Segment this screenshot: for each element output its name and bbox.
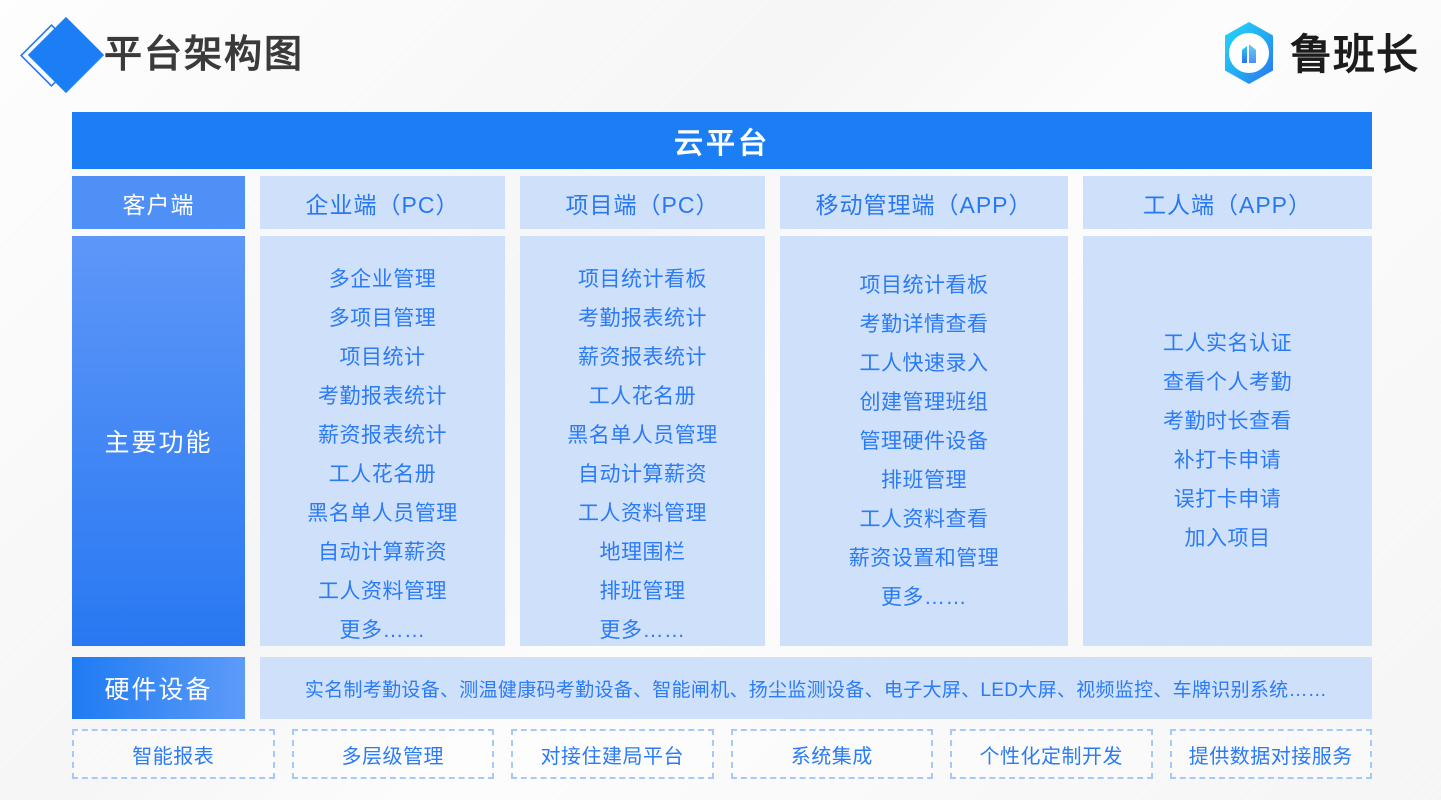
column-header-enterprise-pc[interactable]: 企业端（PC） — [260, 176, 505, 229]
cloud-platform-banner: 云平台 — [72, 112, 1372, 169]
list-item[interactable]: 工人资料查看 — [860, 500, 989, 539]
list-item[interactable]: 多项目管理 — [329, 299, 437, 338]
tag-smart-reports[interactable]: 智能报表 — [72, 729, 275, 779]
list-item[interactable]: 考勤报表统计 — [578, 299, 707, 338]
function-list-worker-app: 工人实名认证 查看个人考勤 考勤时长查看 补打卡申请 误打卡申请 加入项目 — [1083, 236, 1372, 646]
list-item[interactable]: 自动计算薪资 — [318, 533, 447, 572]
hexagon-building-logo-icon — [1218, 20, 1280, 91]
column-header-mobile-admin-app[interactable]: 移动管理端（APP） — [780, 176, 1068, 229]
list-item[interactable]: 工人快速录入 — [860, 344, 989, 383]
column-header-worker-app[interactable]: 工人端（APP） — [1083, 176, 1372, 229]
cloud-platform-label: 云平台 — [674, 120, 770, 162]
list-item[interactable]: 更多…… — [600, 611, 686, 650]
list-item[interactable]: 多企业管理 — [329, 260, 437, 299]
list-item[interactable]: 工人花名册 — [589, 377, 697, 416]
list-item[interactable]: 考勤报表统计 — [318, 377, 447, 416]
hardware-devices-list: 实名制考勤设备、测温健康码考勤设备、智能闸机、扬尘监测设备、电子大屏、LED大屏… — [260, 657, 1372, 719]
function-list-mobile-admin-app: 项目统计看板 考勤详情查看 工人快速录入 创建管理班组 管理硬件设备 排班管理 … — [780, 236, 1068, 646]
platform-architecture-diagram: 平台架构图 — [0, 0, 1441, 800]
row-label-main-functions: 主要功能 — [72, 236, 245, 646]
list-item[interactable]: 地理围栏 — [600, 533, 686, 572]
row-label-client: 客户端 — [72, 176, 245, 229]
row-label-hardware-devices: 硬件设备 — [72, 657, 245, 719]
list-item[interactable]: 误打卡申请 — [1174, 480, 1282, 519]
hardware-devices-row: 硬件设备 实名制考勤设备、测温健康码考勤设备、智能闸机、扬尘监测设备、电子大屏、… — [72, 657, 1372, 719]
main-functions-row: 主要功能 多企业管理 多项目管理 项目统计 考勤报表统计 薪资报表统计 工人花名… — [72, 236, 1372, 646]
list-item[interactable]: 工人花名册 — [329, 455, 437, 494]
list-item[interactable]: 考勤详情查看 — [860, 305, 989, 344]
list-item[interactable]: 黑名单人员管理 — [307, 494, 458, 533]
client-type-header-row: 客户端 企业端（PC） 项目端（PC） 移动管理端（APP） 工人端（APP） — [72, 176, 1372, 229]
brand-logo: 鲁班长 — [1218, 18, 1419, 92]
column-header-project-pc[interactable]: 项目端（PC） — [520, 176, 765, 229]
list-item[interactable]: 工人资料管理 — [318, 572, 447, 611]
list-item[interactable]: 加入项目 — [1185, 519, 1271, 558]
list-item[interactable]: 查看个人考勤 — [1163, 363, 1292, 402]
list-item[interactable]: 项目统计 — [340, 338, 426, 377]
diamond-icon — [8, 16, 104, 96]
list-item[interactable]: 自动计算薪资 — [578, 455, 707, 494]
list-item[interactable]: 考勤时长查看 — [1163, 402, 1292, 441]
list-item[interactable]: 工人资料管理 — [578, 494, 707, 533]
list-item[interactable]: 补打卡申请 — [1174, 441, 1282, 480]
list-item[interactable]: 黑名单人员管理 — [567, 416, 718, 455]
list-item[interactable]: 项目统计看板 — [578, 260, 707, 299]
function-list-enterprise-pc: 多企业管理 多项目管理 项目统计 考勤报表统计 薪资报表统计 工人花名册 黑名单… — [260, 236, 505, 646]
list-item[interactable]: 项目统计看板 — [860, 266, 989, 305]
tag-system-integration[interactable]: 系统集成 — [731, 729, 934, 779]
capability-tags-row: 智能报表 多层级管理 对接住建局平台 系统集成 个性化定制开发 提供数据对接服务 — [72, 729, 1372, 779]
function-list-project-pc: 项目统计看板 考勤报表统计 薪资报表统计 工人花名册 黑名单人员管理 自动计算薪… — [520, 236, 765, 646]
list-item[interactable]: 排班管理 — [600, 572, 686, 611]
list-item[interactable]: 薪资设置和管理 — [849, 539, 1000, 578]
list-item[interactable]: 排班管理 — [881, 461, 967, 500]
page-title: 平台架构图 — [104, 28, 304, 82]
list-item[interactable]: 工人实名认证 — [1163, 324, 1292, 363]
page-header: 平台架构图 — [0, 0, 1441, 110]
tag-multi-level-mgmt[interactable]: 多层级管理 — [292, 729, 495, 779]
brand-name: 鲁班长 — [1290, 29, 1419, 81]
tag-housing-bureau-link[interactable]: 对接住建局平台 — [511, 729, 714, 779]
list-item[interactable]: 薪资报表统计 — [318, 416, 447, 455]
list-item[interactable]: 薪资报表统计 — [578, 338, 707, 377]
list-item[interactable]: 更多…… — [340, 611, 426, 650]
tag-custom-development[interactable]: 个性化定制开发 — [950, 729, 1153, 779]
tag-data-docking-service[interactable]: 提供数据对接服务 — [1170, 729, 1373, 779]
list-item[interactable]: 更多…… — [881, 578, 967, 617]
list-item[interactable]: 管理硬件设备 — [860, 422, 989, 461]
list-item[interactable]: 创建管理班组 — [860, 383, 989, 422]
